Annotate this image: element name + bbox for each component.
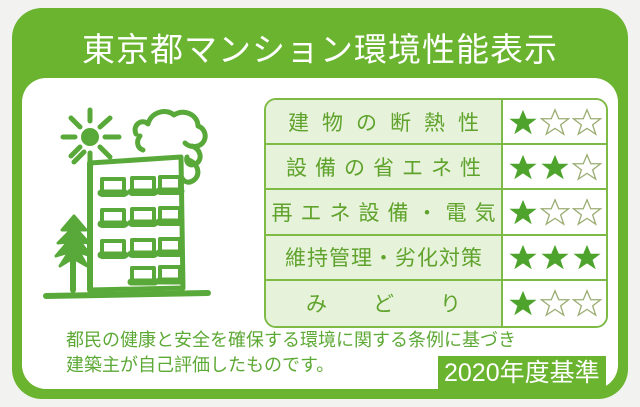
table-row: みどり xyxy=(266,281,606,326)
rating-stars-renewable-energy xyxy=(503,190,606,233)
ground-line-icon xyxy=(46,293,208,296)
page-title: 東京都マンション環境性能表示 xyxy=(12,30,628,70)
rating-label-insulation: 建物の断熱性 xyxy=(266,100,503,143)
table-row: 維持管理・劣化対策 xyxy=(266,236,606,281)
star-empty-icon xyxy=(572,197,602,227)
star-empty-icon xyxy=(572,107,602,137)
rating-stars-greenery xyxy=(503,281,606,326)
star-filled-icon xyxy=(508,242,538,272)
rating-stars-maintenance-durability xyxy=(503,236,606,279)
star-empty-icon xyxy=(540,288,570,318)
rating-label-energy-saving: 設備の省エネ性 xyxy=(266,145,503,188)
table-row: 設備の省エネ性 xyxy=(266,145,606,190)
table-row: 再エネ設備・電気 xyxy=(266,190,606,235)
star-empty-icon xyxy=(540,107,570,137)
environmental-performance-label-card: 東京都マンション環境性能表示 xyxy=(12,8,628,399)
label-inner-panel: 建物の断熱性 設備の省エネ性 再エネ設備・電気 xyxy=(22,78,618,389)
star-filled-icon xyxy=(508,152,538,182)
rating-stars-insulation xyxy=(503,100,606,143)
rating-label-renewable-energy: 再エネ設備・電気 xyxy=(266,190,503,233)
ratings-table: 建物の断熱性 設備の省エネ性 再エネ設備・電気 xyxy=(264,98,608,328)
star-filled-icon xyxy=(508,288,538,318)
star-filled-icon xyxy=(508,197,538,227)
standard-year-badge: 2020年度基準 xyxy=(438,356,606,392)
sun-icon xyxy=(63,110,119,166)
rating-label-greenery: みどり xyxy=(266,281,503,326)
star-filled-icon xyxy=(540,242,570,272)
rating-stars-energy-saving xyxy=(503,145,606,188)
cloud-icon xyxy=(135,112,205,183)
star-filled-icon xyxy=(572,242,602,272)
table-row: 建物の断熱性 xyxy=(266,100,606,145)
apartment-building-icon xyxy=(90,157,183,290)
star-empty-icon xyxy=(540,197,570,227)
star-empty-icon xyxy=(572,152,602,182)
star-filled-icon xyxy=(508,107,538,137)
star-filled-icon xyxy=(540,152,570,182)
eco-apartment-building-illustration xyxy=(40,90,265,320)
rating-label-maintenance-durability: 維持管理・劣化対策 xyxy=(266,236,503,279)
star-empty-icon xyxy=(572,288,602,318)
disclaimer-line-1: 都民の健康と安全を確保する環境に関する条例に基づき xyxy=(66,328,516,353)
tree-icon xyxy=(56,216,91,290)
